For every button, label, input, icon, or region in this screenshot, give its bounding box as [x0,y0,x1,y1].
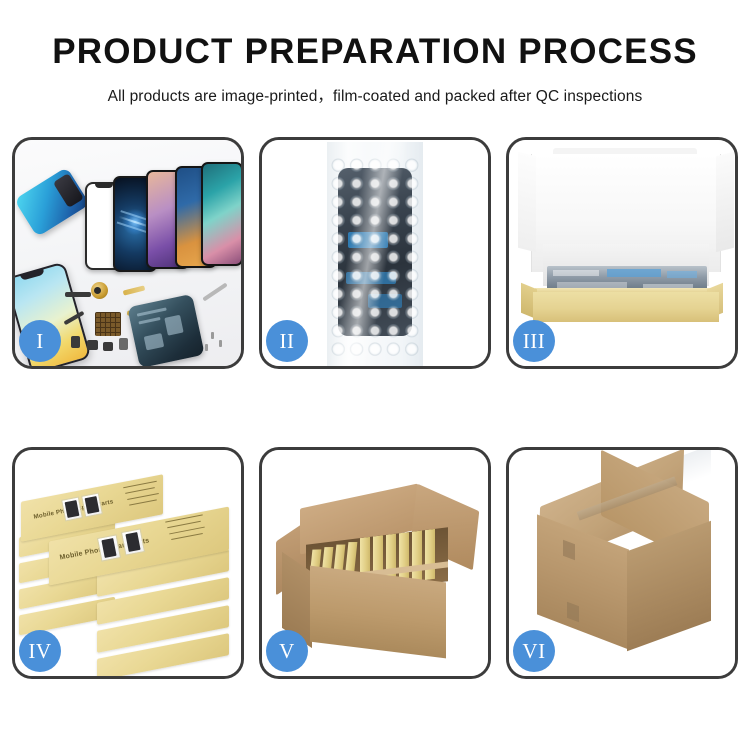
sim-tray-part [119,338,128,350]
process-step-4: Mobile Phone Spare Parts Mobile Phone Sp… [12,447,244,679]
process-step-6: VI [506,447,738,679]
phone-screen-teal [201,162,241,266]
speaker-coil-part [91,282,108,299]
mailer-front-wall [533,292,719,322]
box-art-screen-1 [61,496,83,521]
phone-screen-tilted [15,167,90,237]
step-badge-2: II [266,320,308,362]
screw-part-1 [211,332,214,339]
box-art-screen-4 [121,528,145,555]
sealed-carton-right-face [627,521,711,652]
mesh-chip-part [95,312,121,336]
button-part [103,342,113,351]
step-badge-3: III [513,320,555,362]
carton-front-face [310,566,446,659]
process-step-1: I [12,137,244,369]
step-badge-1: I [19,320,61,362]
earpiece-part [65,292,91,297]
process-step-5: V [259,447,491,679]
process-step-grid: I II [0,137,750,679]
phone-chassis-part [127,294,204,366]
flex-cable-part-1 [123,285,146,295]
vibrator-part [87,340,98,350]
page-subtitle: All products are image-printed，film-coat… [0,84,750,106]
screw-part-3 [205,344,208,351]
page-title: PRODUCT PREPARATION PROCESS [0,34,750,71]
step-badge-6: VI [513,630,555,672]
camera-module-part [71,336,80,348]
box-art-screen-3 [97,534,121,561]
step-badge-4: IV [19,630,61,672]
box-art-screen-2 [81,492,103,517]
page-header: PRODUCT PREPARATION PROCESS All products… [0,0,750,106]
process-step-3: III [506,137,738,369]
process-step-2: II [259,137,491,369]
tweezers-tool [202,283,227,302]
film-highlight [327,140,423,366]
retail-box-r4 [97,646,229,668]
step-badge-5: V [266,630,308,672]
screw-part-2 [219,340,222,347]
